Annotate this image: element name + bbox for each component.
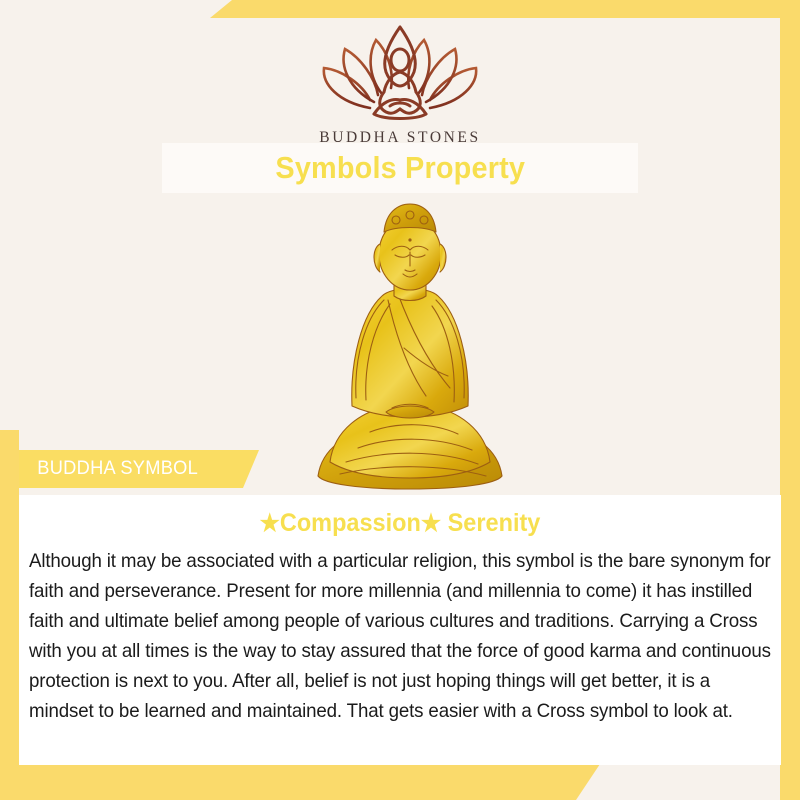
symbol-category-label: BUDDHA SYMBOL xyxy=(19,458,198,480)
lotus-meditation-icon xyxy=(0,22,800,127)
poster-root: BUDDHA STONES Symbols Property xyxy=(0,0,800,800)
keyword-serenity: Serenity xyxy=(448,509,541,537)
page-title: Symbols Property xyxy=(275,150,525,186)
buddha-statue-icon xyxy=(300,200,520,500)
star-icon-left: ★ xyxy=(260,510,280,537)
title-banner: Symbols Property xyxy=(162,143,638,193)
keywords-line: ★Compassion★ Serenity xyxy=(42,509,758,538)
symbol-category-tag: BUDDHA SYMBOL xyxy=(19,450,259,488)
decorative-top-band xyxy=(210,0,800,18)
brand-logo: BUDDHA STONES xyxy=(0,22,800,147)
star-icon-middle: ★ xyxy=(421,510,441,537)
decorative-bottom-band xyxy=(0,764,600,800)
decorative-left-strip xyxy=(0,430,19,800)
content-panel: ★Compassion★ Serenity Although it may be… xyxy=(19,495,781,765)
keyword-compassion: Compassion xyxy=(280,509,421,537)
description-paragraph: Although it may be associated with a par… xyxy=(29,546,772,726)
